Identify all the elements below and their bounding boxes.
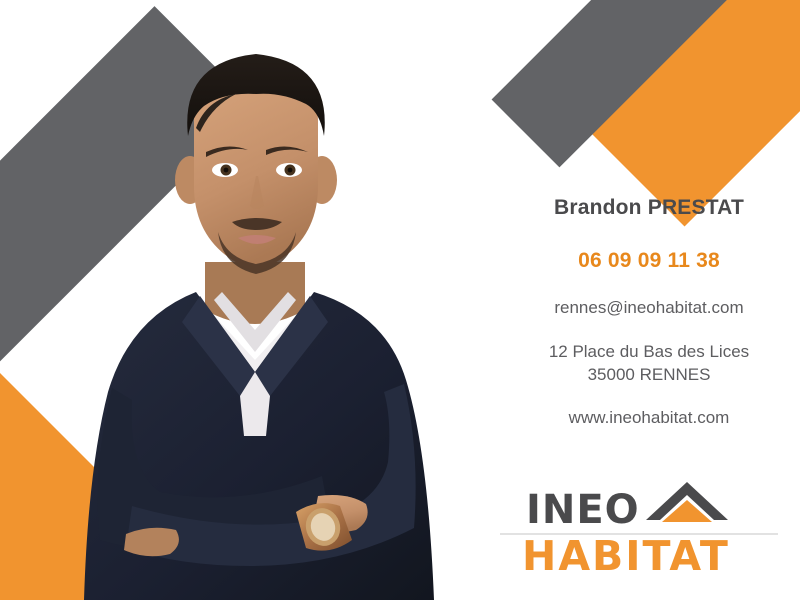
portrait-photo <box>0 0 510 600</box>
logo-word-habitat: HABITAT <box>522 536 730 577</box>
contact-phone[interactable]: 06 09 09 11 38 <box>498 249 800 272</box>
contact-website[interactable]: www.ineohabitat.com <box>498 408 800 428</box>
company-logo: INEO HABITAT <box>500 486 790 586</box>
logo-top-row: INEO <box>526 486 730 530</box>
contact-block: Brandon PRESTAT 06 09 09 11 38 rennes@in… <box>498 196 800 429</box>
contact-name: Brandon PRESTAT <box>498 196 800 219</box>
business-card: Brandon PRESTAT 06 09 09 11 38 rennes@in… <box>0 0 800 600</box>
contact-email[interactable]: rennes@ineohabitat.com <box>498 298 800 318</box>
address-line-2: 35000 RENNES <box>498 364 800 387</box>
contact-address: 12 Place du Bas des Lices 35000 RENNES <box>498 341 800 387</box>
logo-word-ineo: INEO <box>526 491 640 530</box>
portrait-illustration <box>0 0 510 600</box>
address-line-1: 12 Place du Bas des Lices <box>498 341 800 364</box>
roof-chevron-icon <box>644 480 730 529</box>
